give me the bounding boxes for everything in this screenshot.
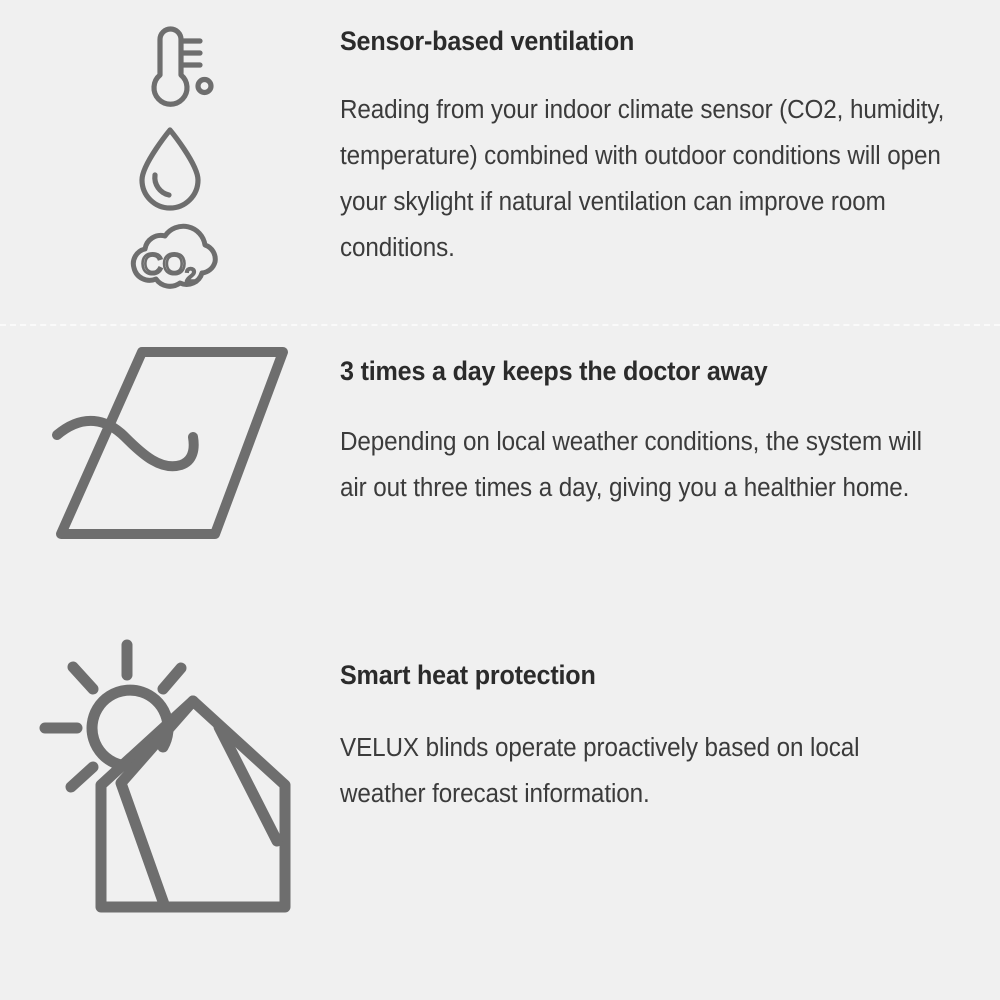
- feature-icon-group-airflow: [0, 325, 340, 552]
- sun-house-skylight-icon: [35, 635, 305, 920]
- feature-section-smart-heat-protection: Smart heat protection VELUX blinds opera…: [0, 625, 1000, 1000]
- feature-section-sensor-based-ventilation: CO 2 Sensor-based ventilation Reading fr…: [0, 0, 1000, 325]
- feature-text-three-times-a-day: 3 times a day keeps the doctor away Depe…: [340, 325, 1000, 511]
- feature-text-sensor-based-ventilation: Sensor-based ventilation Reading from yo…: [340, 0, 1000, 271]
- skylight-airflow-icon: [35, 337, 305, 552]
- feature-text-smart-heat-protection: Smart heat protection VELUX blinds opera…: [340, 625, 1000, 817]
- feature-icon-group-heat: [0, 625, 340, 920]
- co2-icon-subscript: 2: [185, 265, 196, 287]
- feature-title-three-times-a-day: 3 times a day keeps the doctor away: [340, 325, 937, 387]
- feature-body-sensor-based-ventilation: Reading from your indoor climate sensor …: [340, 57, 950, 271]
- thermometer-icon: [122, 22, 218, 117]
- feature-body-smart-heat-protection: VELUX blinds operate proactively based o…: [340, 691, 950, 817]
- feature-section-three-times-a-day: 3 times a day keeps the doctor away Depe…: [0, 325, 1000, 625]
- feature-body-three-times-a-day: Depending on local weather conditions, t…: [340, 387, 950, 511]
- feature-title-sensor-based-ventilation: Sensor-based ventilation: [340, 0, 937, 57]
- co2-cloud-icon: CO 2: [109, 221, 231, 303]
- feature-title-smart-heat-protection: Smart heat protection: [340, 625, 937, 691]
- water-droplet-icon: [122, 123, 218, 215]
- feature-icon-group-sensors: CO 2: [0, 0, 340, 303]
- feature-list-page: CO 2 Sensor-based ventilation Reading fr…: [0, 0, 1000, 1000]
- co2-icon-label: CO: [141, 248, 186, 281]
